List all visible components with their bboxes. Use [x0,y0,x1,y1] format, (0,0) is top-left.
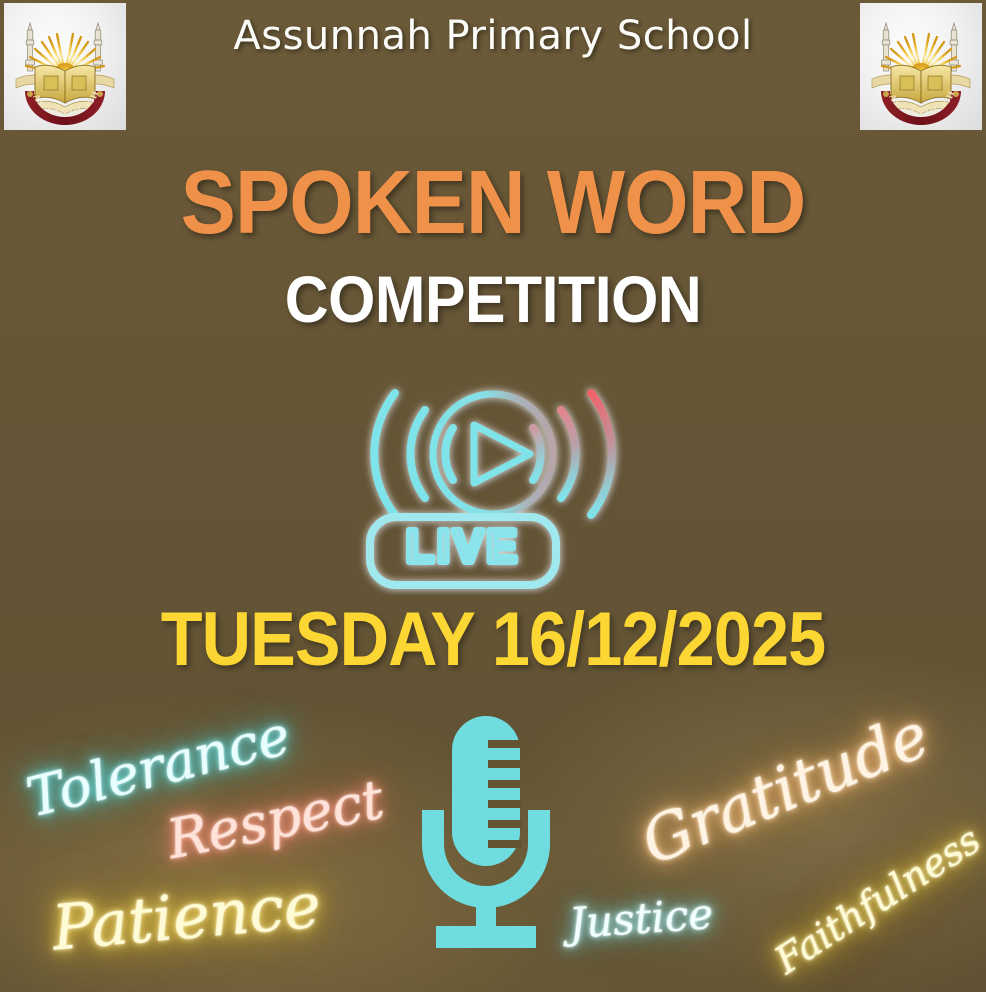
live-broadcast-emblem: LIVE [303,340,683,595]
poster-header: ASSUNNAH SCHOOL [0,0,986,133]
headline-primary: SPOKEN WORD [39,158,946,248]
microphone-icon [406,712,566,952]
headline-secondary: COMPETITION [39,266,946,332]
live-badge-label-outline: LIVE [406,520,520,572]
value-word-faithfulness: Faithfulness [767,818,986,983]
value-word-patience: Patience [49,868,323,964]
event-date: TUESDAY 16/12/2025 [49,602,936,678]
value-word-justice: Justice [567,889,714,948]
live-play-broadcast-icon: LIVE [303,340,683,595]
value-word-gratitude: Gratitude [631,698,938,879]
microphone-graphic [406,712,566,952]
poster-canvas: ASSUNNAH SCHOOL [0,0,986,992]
school-name-title: Assunnah Primary School [0,13,986,59]
